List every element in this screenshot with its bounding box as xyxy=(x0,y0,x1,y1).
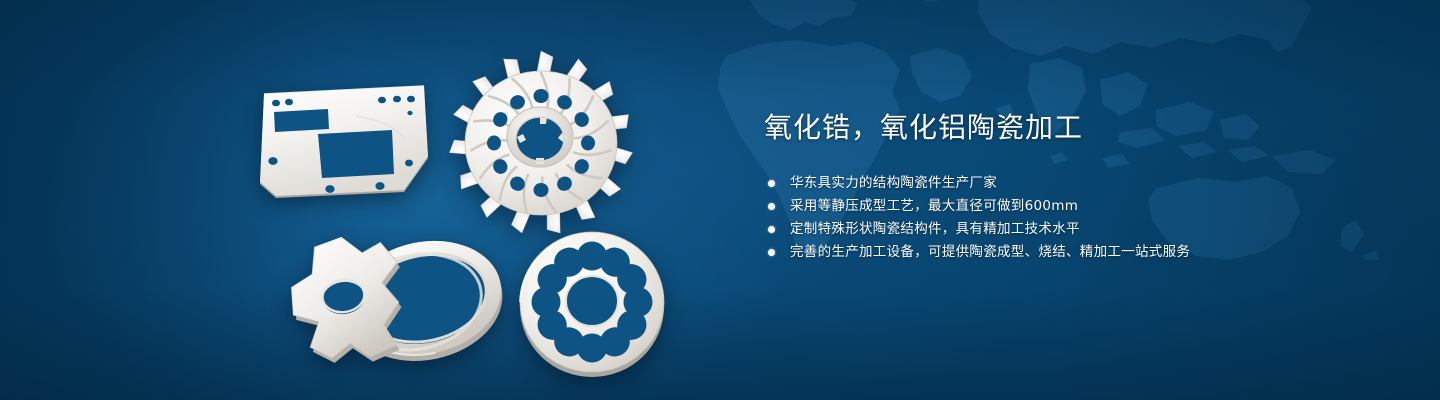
list-item: 完善的生产加工设备，可提供陶瓷成型、烧结、精加工一站式服务 xyxy=(768,241,1384,264)
bullet-dot-icon xyxy=(768,226,775,233)
list-item: 采用等静压成型工艺，最大直径可做到600mm xyxy=(768,195,1384,218)
list-item-label: 定制特殊形状陶瓷结构件，具有精加工技术水平 xyxy=(790,221,1080,237)
page-title: 氧化锆，氧化铝陶瓷加工 xyxy=(764,108,1384,148)
bullet-dot-icon xyxy=(768,203,775,210)
ceramic-perforated-disc-part xyxy=(512,224,672,380)
list-item: 定制特殊形状陶瓷结构件，具有精加工技术水平 xyxy=(768,218,1384,241)
list-item-label: 采用等静压成型工艺，最大直径可做到600mm xyxy=(790,198,1078,214)
ceramic-plate-part xyxy=(252,82,444,206)
list-item: 华东具实力的结构陶瓷件生产厂家 xyxy=(768,172,1384,195)
bullet-dot-icon xyxy=(768,180,775,187)
list-item-label: 华东具实力的结构陶瓷件生产厂家 xyxy=(790,175,997,191)
product-banner: 氧化锆，氧化铝陶瓷加工 华东具实力的结构陶瓷件生产厂家 采用等静压成型工艺，最大… xyxy=(0,0,1440,400)
banner-copy: 氧化锆，氧化铝陶瓷加工 华东具实力的结构陶瓷件生产厂家 采用等静压成型工艺，最大… xyxy=(764,108,1384,264)
feature-list: 华东具实力的结构陶瓷件生产厂家 采用等静压成型工艺，最大直径可做到600mm 定… xyxy=(768,172,1384,264)
bullet-dot-icon xyxy=(768,249,775,256)
ceramic-impeller-part xyxy=(448,48,634,238)
ceramic-cross-and-ring-part xyxy=(248,222,516,372)
list-item-label: 完善的生产加工设备，可提供陶瓷成型、烧结、精加工一站式服务 xyxy=(790,244,1190,260)
